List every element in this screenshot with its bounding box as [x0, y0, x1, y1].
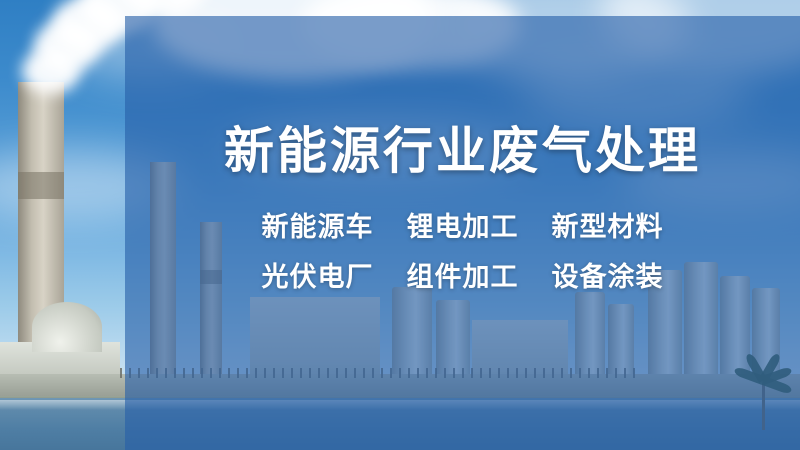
subline-1-item-3: 新型材料: [552, 212, 664, 242]
subline-1-item-2: 锂电加工: [407, 212, 519, 242]
banner-subline-2: 光伏电厂 组件加工 设备涂装: [261, 263, 663, 291]
scrubber-dome: [32, 302, 102, 352]
banner-text-block: 新能源行业废气处理 新能源车 锂电加工 新型材料 光伏电厂 组件加工 设备涂装: [125, 16, 800, 450]
subline-2-item-2: 组件加工: [407, 262, 519, 292]
subline-2-item-1: 光伏电厂: [261, 262, 373, 292]
subline-2-item-3: 设备涂装: [552, 262, 664, 292]
promo-banner: 新能源行业废气处理 新能源车 锂电加工 新型材料 光伏电厂 组件加工 设备涂装: [0, 0, 800, 450]
banner-subline-1: 新能源车 锂电加工 新型材料: [261, 213, 663, 241]
subline-1-item-1: 新能源车: [261, 212, 373, 242]
banner-headline: 新能源行业废气处理: [224, 124, 701, 179]
